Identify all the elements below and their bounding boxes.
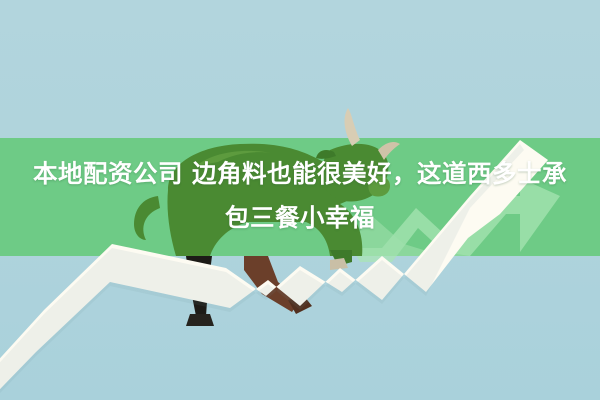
headline-line-1: 本地配资公司 边角料也能很美好，这道西多士承 bbox=[33, 159, 567, 188]
banner-image: 本地配资公司 边角料也能很美好，这道西多士承 包三餐小幸福 bbox=[0, 0, 600, 400]
page-title: 本地配资公司 边角料也能很美好，这道西多士承 包三餐小幸福 bbox=[0, 152, 600, 240]
headline-line-2: 包三餐小幸福 bbox=[8, 196, 592, 240]
bull-front-hoof bbox=[186, 314, 214, 326]
